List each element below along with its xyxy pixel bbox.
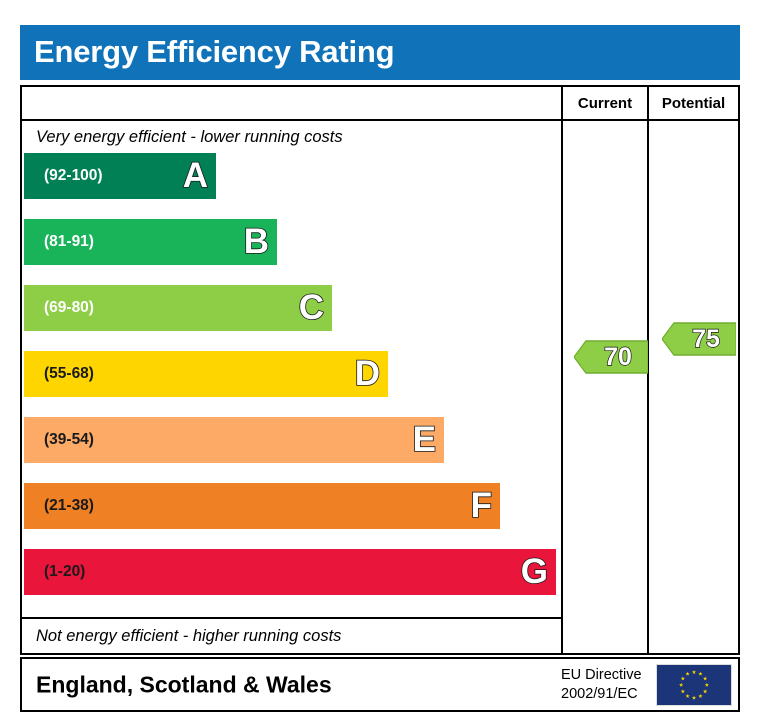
star-icon bbox=[679, 682, 683, 686]
band-row-f: (21-38)F bbox=[24, 483, 500, 529]
star-icon bbox=[705, 682, 709, 686]
band-row-g: (1-20)G bbox=[24, 549, 556, 595]
band-letter-c: C bbox=[299, 290, 324, 325]
band-range-d: (55-68) bbox=[44, 365, 94, 383]
eu-directive-label: EU Directive 2002/91/EC bbox=[561, 665, 642, 703]
rating-chart-box: Current Potential Very energy efficient … bbox=[20, 85, 740, 655]
band-letter-f: F bbox=[471, 488, 492, 523]
band-range-a: (92-100) bbox=[44, 167, 103, 185]
band-range-c: (69-80) bbox=[44, 299, 94, 317]
footer-bar: England, Scotland & Wales EU Directive 2… bbox=[20, 657, 740, 712]
band-range-g: (1-20) bbox=[44, 563, 85, 581]
column-header-current: Current bbox=[561, 87, 647, 119]
star-icon bbox=[692, 695, 696, 699]
band-letter-g: G bbox=[521, 554, 548, 589]
caption-efficient: Very energy efficient - lower running co… bbox=[24, 121, 561, 153]
band-row-b: (81-91)B bbox=[24, 219, 277, 265]
band-letter-d: D bbox=[355, 356, 380, 391]
band-list: (92-100)A(81-91)B(69-80)C(55-68)D(39-54)… bbox=[24, 153, 561, 617]
chart-title-bar: Energy Efficiency Rating bbox=[20, 25, 740, 80]
energy-efficiency-certificate: Energy Efficiency Rating Current Potenti… bbox=[20, 25, 740, 690]
band-row-e: (39-54)E bbox=[24, 417, 444, 463]
band-range-e: (39-54) bbox=[44, 431, 94, 449]
star-icon bbox=[685, 693, 689, 697]
star-icon bbox=[692, 669, 696, 673]
band-row-d: (55-68)D bbox=[24, 351, 388, 397]
column-divider-current bbox=[561, 121, 563, 653]
page-title: Energy Efficiency Rating bbox=[34, 34, 394, 70]
current-rating-value: 70 bbox=[604, 343, 632, 372]
star-icon bbox=[685, 671, 689, 675]
band-letter-a: A bbox=[183, 158, 208, 193]
star-icon bbox=[681, 689, 685, 693]
star-icon bbox=[703, 689, 707, 693]
star-icon bbox=[703, 676, 707, 680]
star-icon bbox=[698, 693, 702, 697]
band-row-a: (92-100)A bbox=[24, 153, 216, 199]
band-letter-e: E bbox=[413, 422, 436, 457]
band-range-f: (21-38) bbox=[44, 497, 94, 515]
band-row-c: (69-80)C bbox=[24, 285, 332, 331]
potential-rating-arrow: 75 bbox=[662, 319, 736, 359]
star-icon bbox=[698, 671, 702, 675]
region-label: England, Scotland & Wales bbox=[36, 671, 332, 698]
star-icon bbox=[681, 676, 685, 680]
eu-directive-line1: EU Directive bbox=[561, 665, 642, 684]
column-divider-potential bbox=[647, 121, 649, 653]
eu-flag-stars bbox=[657, 665, 731, 705]
band-range-b: (81-91) bbox=[44, 233, 94, 251]
eu-flag-icon bbox=[656, 664, 732, 706]
eu-directive-line2: 2002/91/EC bbox=[561, 685, 642, 704]
potential-rating-value: 75 bbox=[692, 325, 720, 354]
current-rating-arrow: 70 bbox=[574, 337, 648, 377]
column-header-potential: Potential bbox=[647, 87, 738, 119]
band-letter-b: B bbox=[244, 224, 269, 259]
column-header-row: Current Potential bbox=[22, 87, 738, 121]
caption-inefficient: Not energy efficient - higher running co… bbox=[24, 619, 561, 653]
